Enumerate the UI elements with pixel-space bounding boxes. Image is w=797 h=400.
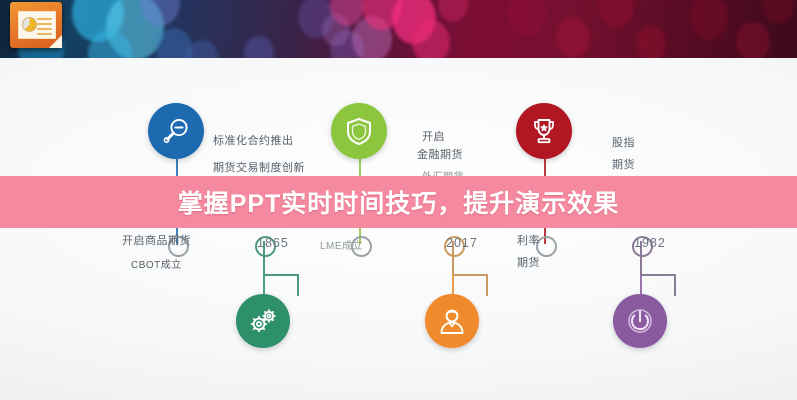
power-icon [625,306,655,336]
magnifier-minus-icon [161,116,191,146]
elbow-1865-v2 [297,274,299,296]
title-banner: 掌握PPT实时时间技巧，提升演示效果 [0,176,797,228]
infographic-canvas: 标准化合约推出 期货交易制度创新 开启 金融期货 外汇期货 股指 期货 开启商品… [0,58,797,400]
milestone-5-caption-1: 利率 [517,234,540,249]
person-icon [437,306,467,336]
elbow-2017-v2 [486,274,488,296]
shield-icon [345,116,373,146]
node-3-label-1: 股指 [612,136,635,151]
milestone-2-year: 1865 [257,236,289,251]
node-3-label-2: 期货 [612,158,635,173]
elbow-1865-h [263,274,299,276]
node-person[interactable] [425,294,479,348]
node-gears[interactable] [236,294,290,348]
gears-icon [247,306,279,336]
banner-title-text: 掌握PPT实时时间技巧，提升演示效果 [0,176,797,228]
bokeh-background [0,0,797,58]
milestone-6-year: 1982 [634,236,666,251]
powerpoint-file-icon[interactable] [10,2,62,48]
pie-chart-glyph [22,17,37,32]
node-power[interactable] [613,294,667,348]
node-2-label-1: 开启 [422,130,445,145]
milestone-1-caption-1: 开启商品期货 [122,234,191,249]
page-fold-corner [49,35,62,48]
node-1-label-1: 标准化合约推出 [213,134,294,149]
milestone-4-year: 2017 [446,236,478,251]
milestone-5-caption-2: 期货 [517,256,540,271]
trophy-icon [529,116,559,146]
milestone-1-caption-2: CBOT成立 [131,258,182,273]
screenshot-root: 标准化合约推出 期货交易制度创新 开启 金融期货 外汇期货 股指 期货 开启商品… [0,0,797,400]
node-magnifier-minus[interactable] [148,103,204,159]
node-2-label-2: 金融期货 [417,148,463,163]
milestone-3-caption-1: LME成立 [320,239,363,254]
elbow-1982-h [640,274,676,276]
elbow-2017-h [452,274,488,276]
node-shield[interactable] [331,103,387,159]
elbow-1982-v2 [674,274,676,296]
node-1-label-2: 期货交易制度创新 [213,161,305,176]
node-trophy[interactable] [516,103,572,159]
